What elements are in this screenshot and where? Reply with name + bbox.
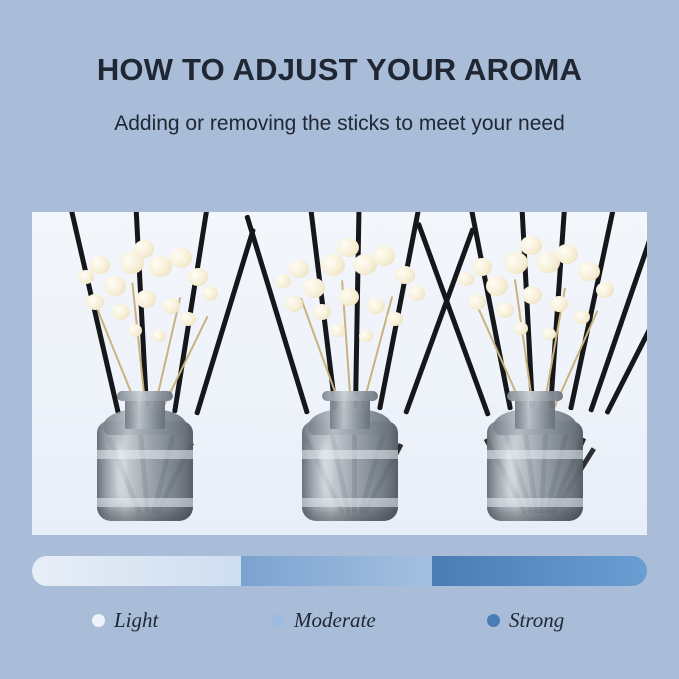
dried-flower-cluster — [134, 240, 154, 258]
dried-flower-cluster — [104, 276, 126, 296]
dried-flower-cluster — [496, 302, 514, 318]
dried-flower-cluster — [285, 296, 303, 312]
dried-flower-cluster — [486, 276, 508, 296]
vase-specular-highlight — [115, 441, 125, 501]
dried-flower-cluster — [458, 272, 474, 286]
intensity-segment-moderate — [241, 556, 432, 586]
dried-flower-cluster — [504, 252, 528, 274]
legend-item-light: Light — [92, 608, 158, 633]
dried-flower-cluster — [596, 282, 614, 298]
dried-flower-cluster — [303, 278, 325, 298]
dried-flower-cluster — [86, 294, 104, 310]
dried-flower-cluster — [542, 328, 556, 340]
dried-flower-cluster — [409, 286, 425, 301]
moderate-intensity-arrangement — [247, 212, 452, 535]
dried-flower-cluster — [367, 298, 385, 314]
vase-lip — [322, 391, 378, 401]
vase-lip — [117, 391, 173, 401]
dried-flower-cluster — [359, 330, 373, 342]
legend-label: Light — [114, 608, 158, 633]
vase-specular-highlight — [505, 441, 515, 501]
reed-stick — [244, 214, 310, 414]
dried-flower-cluster — [321, 254, 345, 276]
dried-flower-cluster — [289, 260, 309, 278]
legend-item-strong: Strong — [487, 608, 564, 633]
dried-flower-cluster — [313, 304, 331, 320]
dried-flower-cluster — [574, 310, 590, 324]
legend-dot-icon — [272, 614, 285, 627]
dried-flower-cluster — [373, 246, 395, 266]
legend-item-moderate: Moderate — [272, 608, 376, 633]
dried-flower-cluster — [78, 270, 94, 284]
intensity-gradient-bar — [32, 556, 647, 586]
dried-flower-cluster — [152, 330, 166, 342]
page-title: HOW TO ADJUST YOUR AROMA — [0, 52, 679, 88]
dried-flower-cluster — [578, 262, 600, 281]
dried-flower-cluster — [180, 312, 196, 326]
intensity-segment-light — [32, 556, 241, 586]
vase-specular-highlight — [320, 441, 330, 501]
dried-flower-cluster — [162, 298, 180, 314]
legend-label: Moderate — [294, 608, 376, 633]
dried-flower-cluster — [148, 256, 172, 277]
glass-vase — [97, 386, 193, 521]
dried-flower-cluster — [522, 286, 542, 304]
legend-dot-icon — [92, 614, 105, 627]
dried-flower-cluster — [395, 266, 415, 284]
legend-label: Strong — [509, 608, 564, 633]
dried-flower-cluster — [170, 248, 192, 268]
dried-flower-cluster — [556, 244, 578, 264]
vase-highlight-band — [302, 450, 398, 459]
legend: Light Moderate Strong — [32, 608, 647, 648]
vase-lip — [507, 391, 563, 401]
dried-flower-cluster — [337, 238, 359, 257]
page-subtitle: Adding or removing the sticks to meet yo… — [0, 112, 679, 136]
vase-highlight-band — [97, 450, 193, 459]
dried-flower-cluster — [472, 258, 492, 276]
vase-highlight-band — [97, 498, 193, 507]
dried-flower-cluster — [112, 304, 130, 320]
poster-root: HOW TO ADJUST YOUR AROMA Adding or remov… — [0, 0, 679, 679]
dried-flower-cluster — [136, 290, 156, 308]
dried-flower-cluster — [202, 286, 218, 301]
dried-flower-cluster — [468, 294, 486, 310]
dried-flower-cluster — [128, 324, 142, 337]
dried-flower-cluster — [275, 274, 291, 288]
glass-vase — [487, 386, 583, 521]
strong-intensity-arrangement — [432, 212, 637, 535]
vase-highlight-band — [487, 450, 583, 459]
dried-flower-cluster — [520, 236, 542, 255]
reed-stick — [588, 218, 647, 413]
dried-flower-cluster — [90, 256, 110, 274]
glass-vase — [302, 386, 398, 521]
light-intensity-arrangement — [42, 212, 247, 535]
dried-flower-cluster — [331, 324, 345, 337]
dried-flower-cluster — [339, 288, 359, 306]
reed-diffuser-comparison-photo — [32, 212, 647, 535]
dried-flower-cluster — [188, 268, 208, 286]
dried-flower-cluster — [387, 312, 403, 326]
vase-highlight-band — [302, 498, 398, 507]
legend-dot-icon — [487, 614, 500, 627]
intensity-segment-strong — [432, 556, 647, 586]
dried-flower-cluster — [514, 322, 528, 335]
dried-flower-cluster — [550, 296, 568, 312]
photo-scene — [32, 212, 647, 535]
vase-highlight-band — [487, 498, 583, 507]
